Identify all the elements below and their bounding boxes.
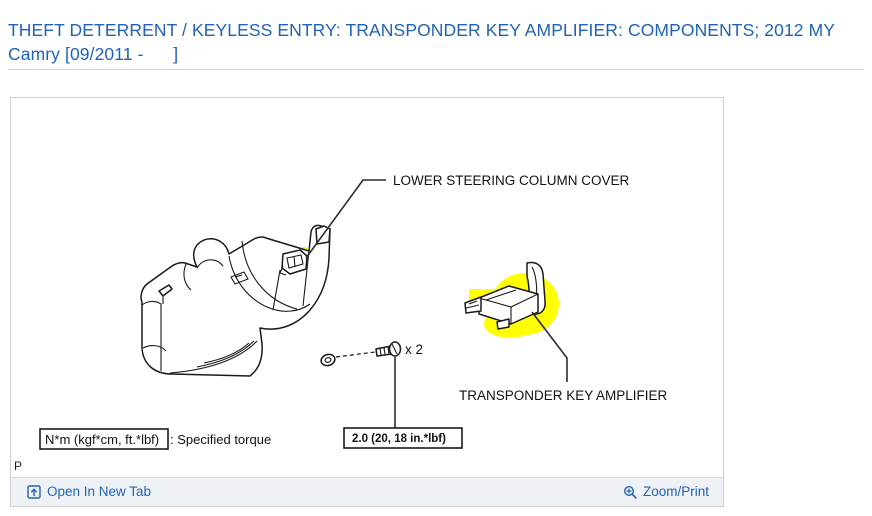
lower-steering-column-cover-drawing [141,225,336,376]
components-diagram: LOWER STEERING COLUMN COVER x 2 [11,98,723,477]
external-window-icon [27,485,41,499]
open-in-new-tab-button[interactable]: Open In New Tab [27,484,151,500]
callout-label-transponder-key-amplifier: TRANSPONDER KEY AMPLIFIER [459,388,668,403]
diagram-viewer-panel: LOWER STEERING COLUMN COVER x 2 [10,97,724,507]
torque-spec-box: 2.0 (20, 18 in.*lbf) [344,428,462,448]
screw-assembly: x 2 [336,342,423,428]
magnifier-plus-icon [623,485,637,499]
cover-screw-boss [320,353,337,368]
torque-legend: N*m (kgf*cm, ft.*lbf) : Specified torque [40,429,271,449]
viewer-toolbar: Open In New Tab Zoom/Print [11,477,723,506]
zoom-print-label: Zoom/Print [643,484,709,500]
callout-label-lower-steering-column-cover: LOWER STEERING COLUMN COVER [393,173,630,188]
legend-unit-box-text: N*m (kgf*cm, ft.*lbf) [45,432,159,447]
screw-icon [376,342,401,356]
legend-description-text: : Specified torque [170,432,271,447]
page-title: THEFT DETERRENT / KEYLESS ENTRY: TRANSPO… [8,18,864,66]
title-divider [8,69,864,70]
stray-character: P [14,460,22,472]
transponder-key-amplifier-drawing: TRANSPONDER KEY AMPLIFIER [459,262,668,403]
open-in-new-tab-label: Open In New Tab [47,484,151,500]
screw-quantity-label: x 2 [405,342,423,357]
callout-lower-steering-column-cover: LOWER STEERING COLUMN COVER [306,173,630,258]
torque-spec-value: 2.0 (20, 18 in.*lbf) [352,433,446,445]
zoom-print-button[interactable]: Zoom/Print [623,484,709,500]
diagram-canvas[interactable]: LOWER STEERING COLUMN COVER x 2 [11,98,723,477]
